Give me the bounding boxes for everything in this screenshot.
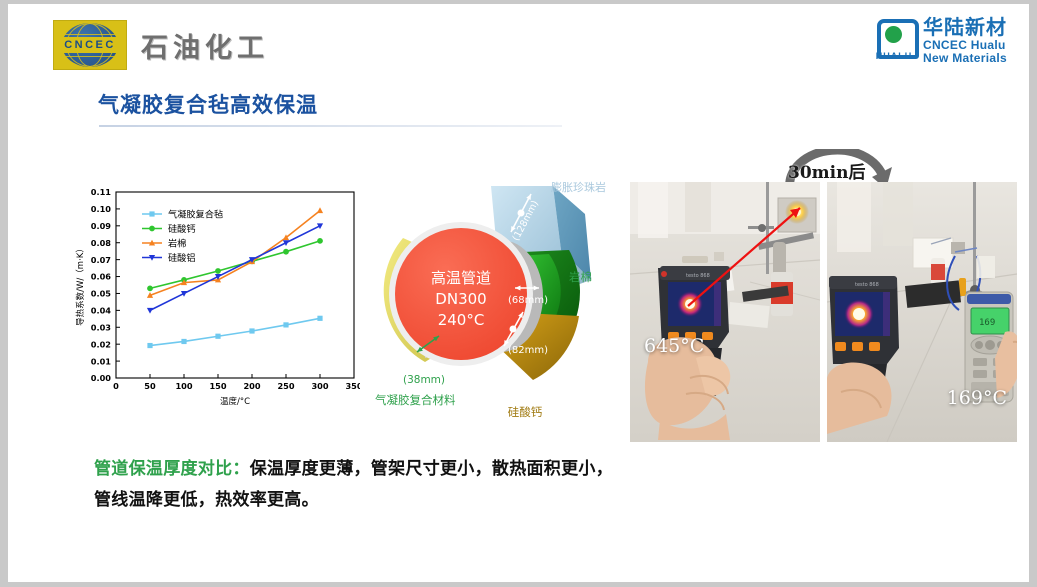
hualu-en-line2: New Materials <box>923 52 1007 65</box>
title-divider <box>99 125 562 127</box>
right-temperature-label: 169°C <box>947 387 1007 409</box>
page-title: 气凝胶复合毡高效保温 <box>98 89 318 119</box>
svg-text:testo 868: testo 868 <box>686 273 710 279</box>
svg-text:膨胀珍珠岩: 膨胀珍珠岩 <box>551 180 606 194</box>
footer-highlight: 管道保温厚度对比： <box>94 459 250 479</box>
svg-text:240°C: 240°C <box>438 311 485 329</box>
svg-text:0.03: 0.03 <box>91 322 112 332</box>
footer-conclusion: 管道保温厚度对比：保温厚度更薄，管架尺寸更小，散热面积更小，管线温降更低，热效率… <box>94 454 614 517</box>
svg-text:(82mm): (82mm) <box>508 345 548 356</box>
hualu-en-line1: CNCEC Hualu <box>923 39 1007 52</box>
svg-text:testo 868: testo 868 <box>855 282 879 288</box>
header-right-branding: HUALU 华陆新材 CNCEC Hualu New Materials <box>873 17 1007 65</box>
photo-left-svg: testo 868 <box>630 182 820 442</box>
svg-text:0: 0 <box>113 381 119 391</box>
svg-text:350: 350 <box>345 381 360 391</box>
cncec-logo-icon: CNCEC <box>53 20 127 70</box>
svg-text:0.08: 0.08 <box>91 238 112 248</box>
svg-text:169: 169 <box>979 318 995 328</box>
svg-text:0.01: 0.01 <box>91 356 112 366</box>
svg-text:50: 50 <box>144 381 156 391</box>
svg-text:高温管道: 高温管道 <box>431 269 491 287</box>
svg-text:硅酸铝: 硅酸铝 <box>168 252 196 264</box>
cncec-wordmark: CNCEC <box>54 37 126 53</box>
hualu-cn-name: 华陆新材 <box>923 17 1007 39</box>
svg-text:0.11: 0.11 <box>91 187 112 197</box>
photo-left-645c: testo 868 645°C <box>630 182 820 442</box>
svg-text:0.00: 0.00 <box>91 373 112 383</box>
svg-text:硅酸钙: 硅酸钙 <box>508 405 543 419</box>
left-temperature-label: 645°C <box>644 335 704 357</box>
svg-text:(68mm): (68mm) <box>508 295 548 306</box>
svg-text:100: 100 <box>175 381 192 391</box>
hualu-logo-icon: HUALU <box>873 19 915 63</box>
thermal-conductivity-chart: 0.000.010.020.030.040.050.060.070.080.09… <box>70 182 360 418</box>
svg-text:硅酸钙: 硅酸钙 <box>168 223 196 235</box>
svg-text:0.05: 0.05 <box>91 289 112 299</box>
pipe-insulation-diagram: 高温管道DN300240°C膨胀珍珠岩(128mm)岩棉(68mm)(82mm)… <box>373 176 625 421</box>
svg-text:200: 200 <box>243 381 260 391</box>
experiment-photos: 30min后 <box>630 182 1018 442</box>
header-left-branding: CNCEC 石油化工 <box>53 20 269 70</box>
svg-text:温度/°C: 温度/°C <box>220 396 250 407</box>
header-company-title: 石油化工 <box>141 26 269 65</box>
svg-text:(38mm): (38mm) <box>403 374 445 386</box>
photo-right-169c: testo 868 169 <box>827 182 1017 442</box>
svg-text:300: 300 <box>311 381 328 391</box>
svg-text:岩棉: 岩棉 <box>168 237 186 249</box>
hualu-wordmark: HUALU <box>873 51 915 62</box>
svg-text:岩棉: 岩棉 <box>569 270 592 284</box>
svg-text:250: 250 <box>277 381 294 391</box>
svg-text:0.04: 0.04 <box>91 306 112 316</box>
svg-text:导热系数/W/（m·K）: 导热系数/W/（m·K） <box>75 244 86 326</box>
svg-text:0.07: 0.07 <box>91 255 112 265</box>
svg-text:0.02: 0.02 <box>91 339 111 349</box>
svg-text:气凝胶复合材料: 气凝胶复合材料 <box>375 393 456 407</box>
svg-text:0.06: 0.06 <box>91 272 112 282</box>
diagram-svg: 高温管道DN300240°C膨胀珍珠岩(128mm)岩棉(68mm)(82mm)… <box>373 176 625 421</box>
svg-text:DN300: DN300 <box>435 290 486 308</box>
svg-text:150: 150 <box>209 381 226 391</box>
svg-text:气凝胶复合毡: 气凝胶复合毡 <box>168 208 223 220</box>
chart-svg: 0.000.010.020.030.040.050.060.070.080.09… <box>70 182 360 418</box>
svg-text:0.09: 0.09 <box>91 221 112 231</box>
slide-canvas: CNCEC 石油化工 HUALU 华陆新材 CNCEC Hualu New Ma… <box>8 4 1029 582</box>
svg-text:0.10: 0.10 <box>91 204 112 214</box>
